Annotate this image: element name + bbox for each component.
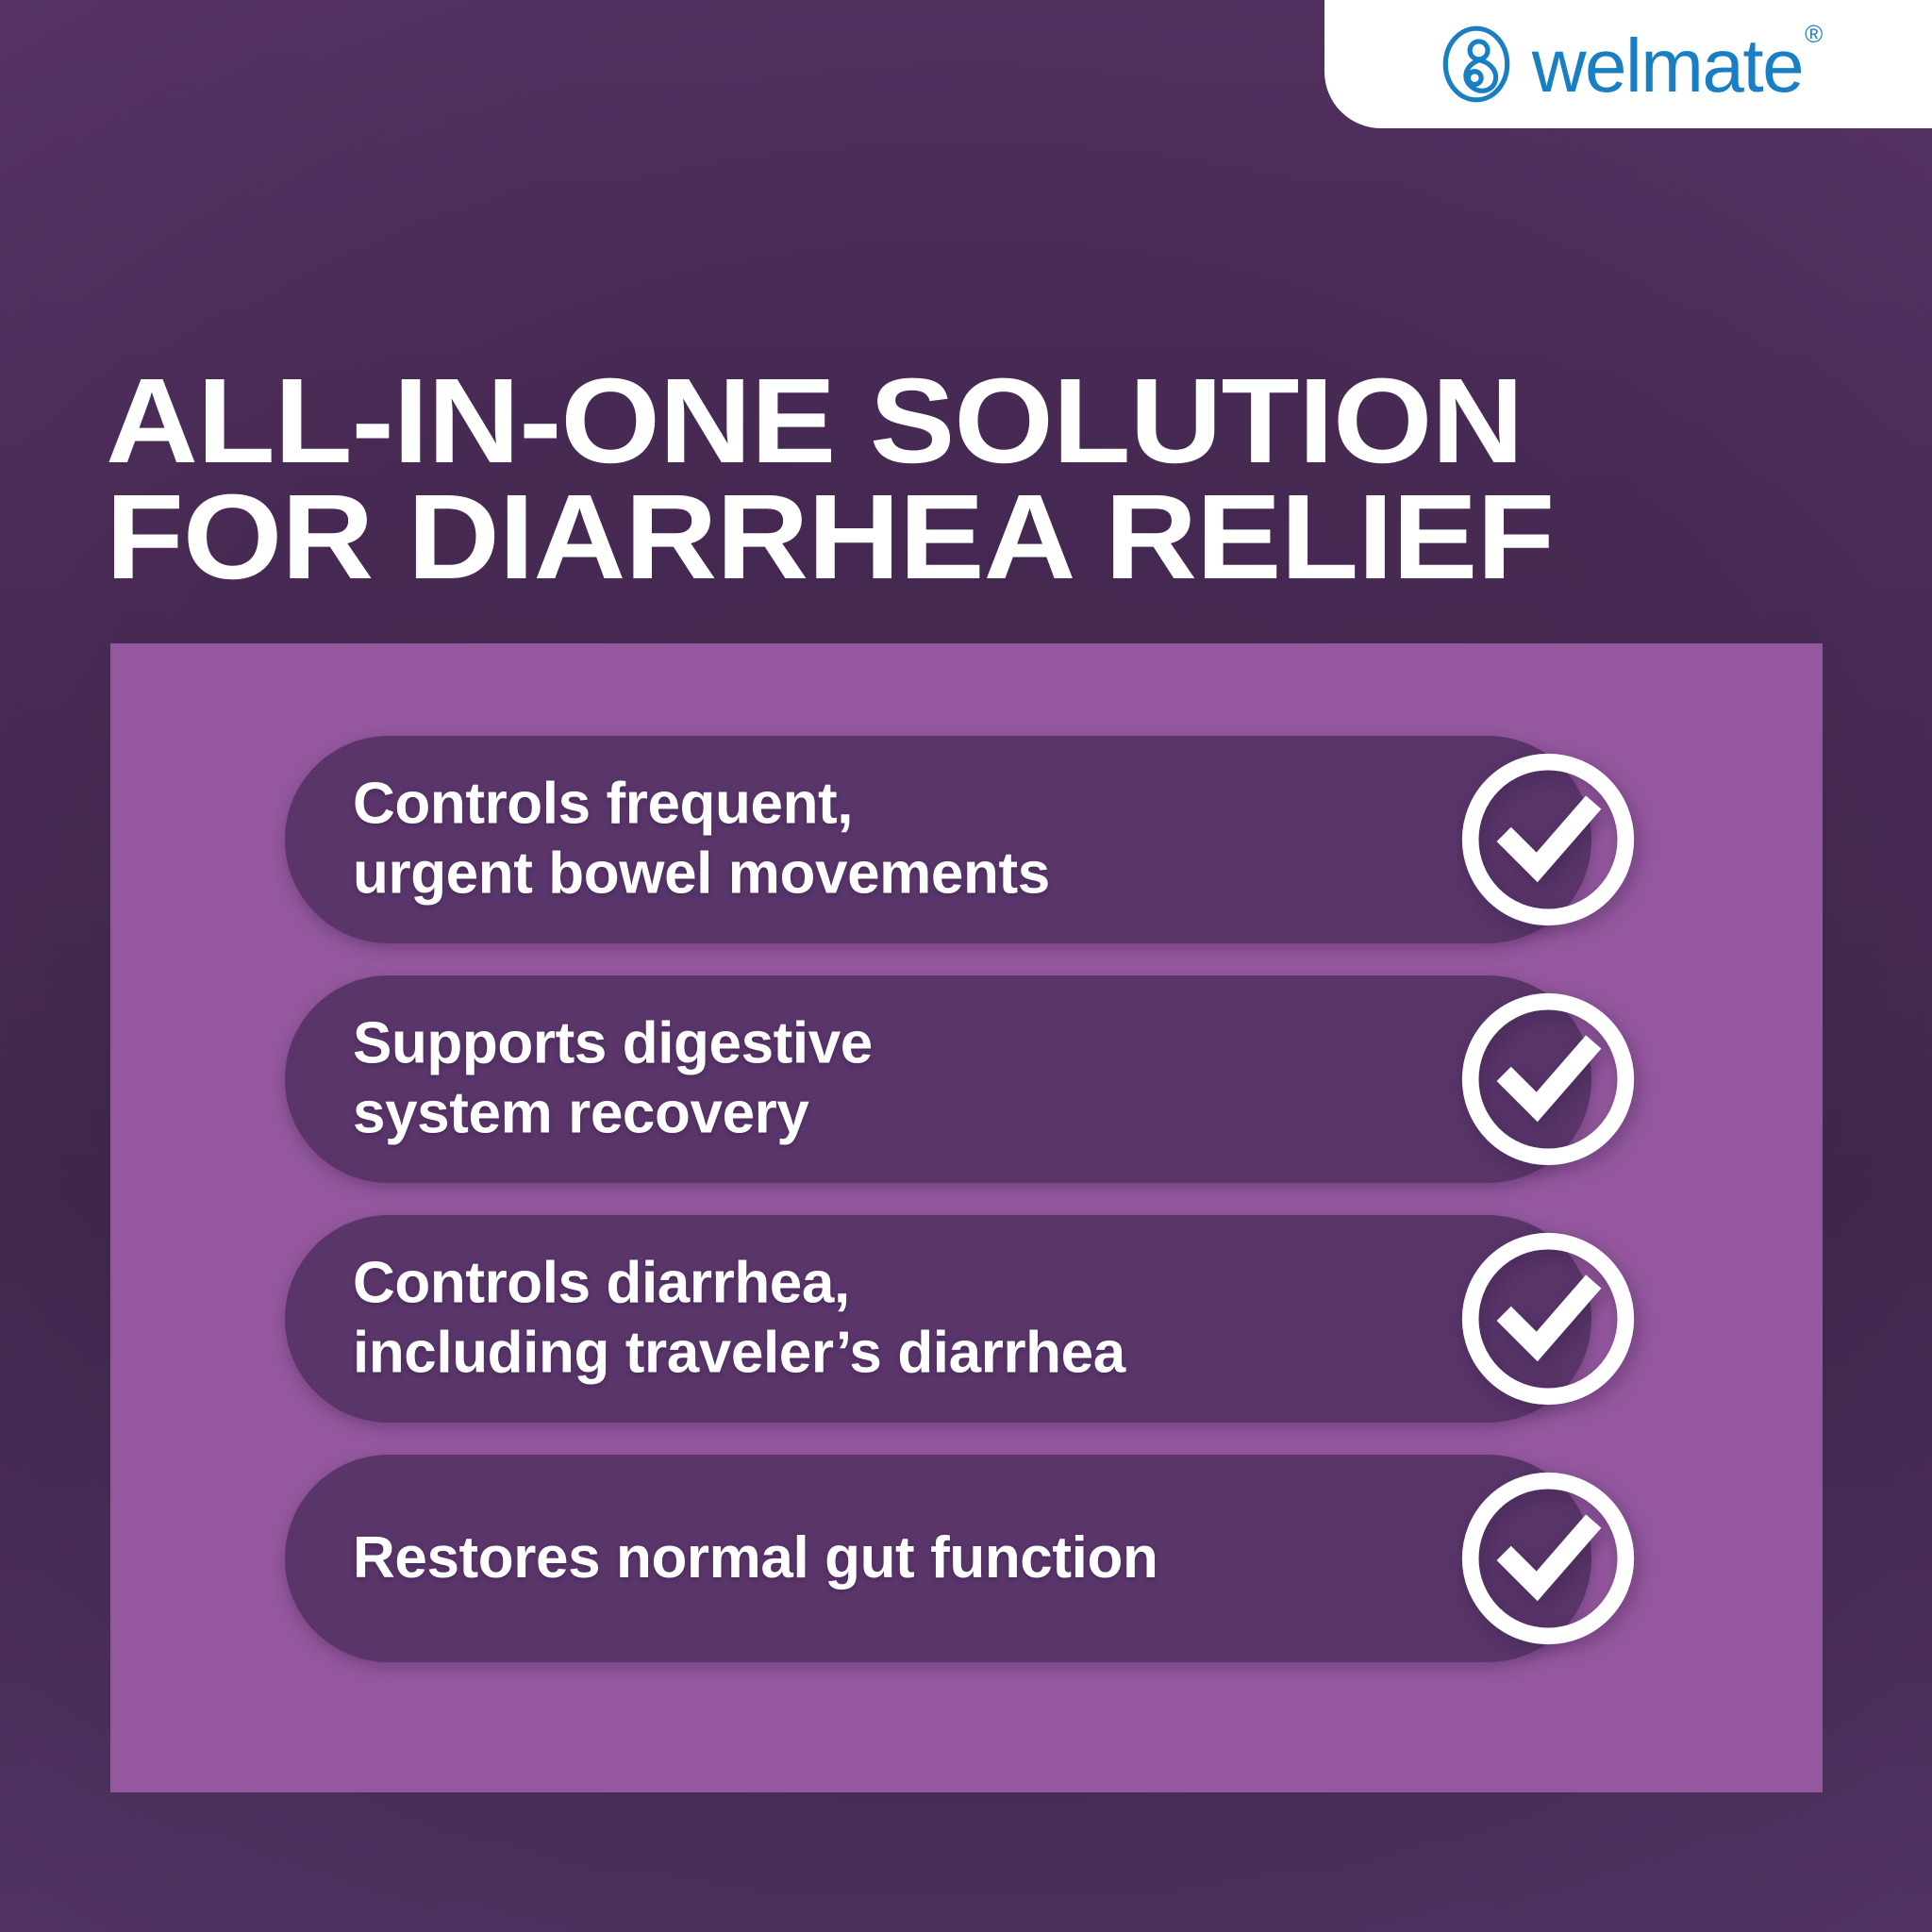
registered-trademark-icon: ® [1805,20,1823,48]
list-item: Controls diarrhea, including traveler’s … [285,1215,1591,1423]
check-circle-icon [1456,1226,1641,1411]
brand-logo-chip: welmate® [1324,0,1932,128]
page-title: ALL-IN-ONE SOLUTION FOR DIARRHEA RELIEF [106,364,1845,596]
benefit-label: Restores normal gut function [353,1524,1381,1593]
benefits-list: Controls frequent, urgent bowel movement… [110,643,1823,1792]
benefit-label: Controls diarrhea, including traveler’s … [353,1249,1381,1390]
list-item: Supports digestive system recovery [285,975,1591,1183]
brand-wordmark: welmate® [1532,28,1822,104]
headline-line-2: FOR DIARRHEA RELIEF [106,480,1845,596]
benefits-card: Controls frequent, urgent bowel movement… [110,643,1823,1792]
promo-poster: welmate® ALL-IN-ONE SOLUTION FOR DIARRHE… [0,0,1932,1932]
benefit-label: Supports digestive system recovery [353,1009,1381,1150]
brand-wordmark-text: welmate [1532,24,1803,108]
check-circle-icon [1456,987,1641,1172]
welmate-figure-in-circle-logomark [1436,24,1517,105]
list-item: Restores normal gut function [285,1455,1591,1662]
headline-line-1: ALL-IN-ONE SOLUTION [106,364,1845,480]
check-circle-icon [1456,1466,1641,1651]
benefit-label: Controls frequent, urgent bowel movement… [353,770,1381,910]
list-item: Controls frequent, urgent bowel movement… [285,736,1591,943]
check-circle-icon [1456,747,1641,932]
